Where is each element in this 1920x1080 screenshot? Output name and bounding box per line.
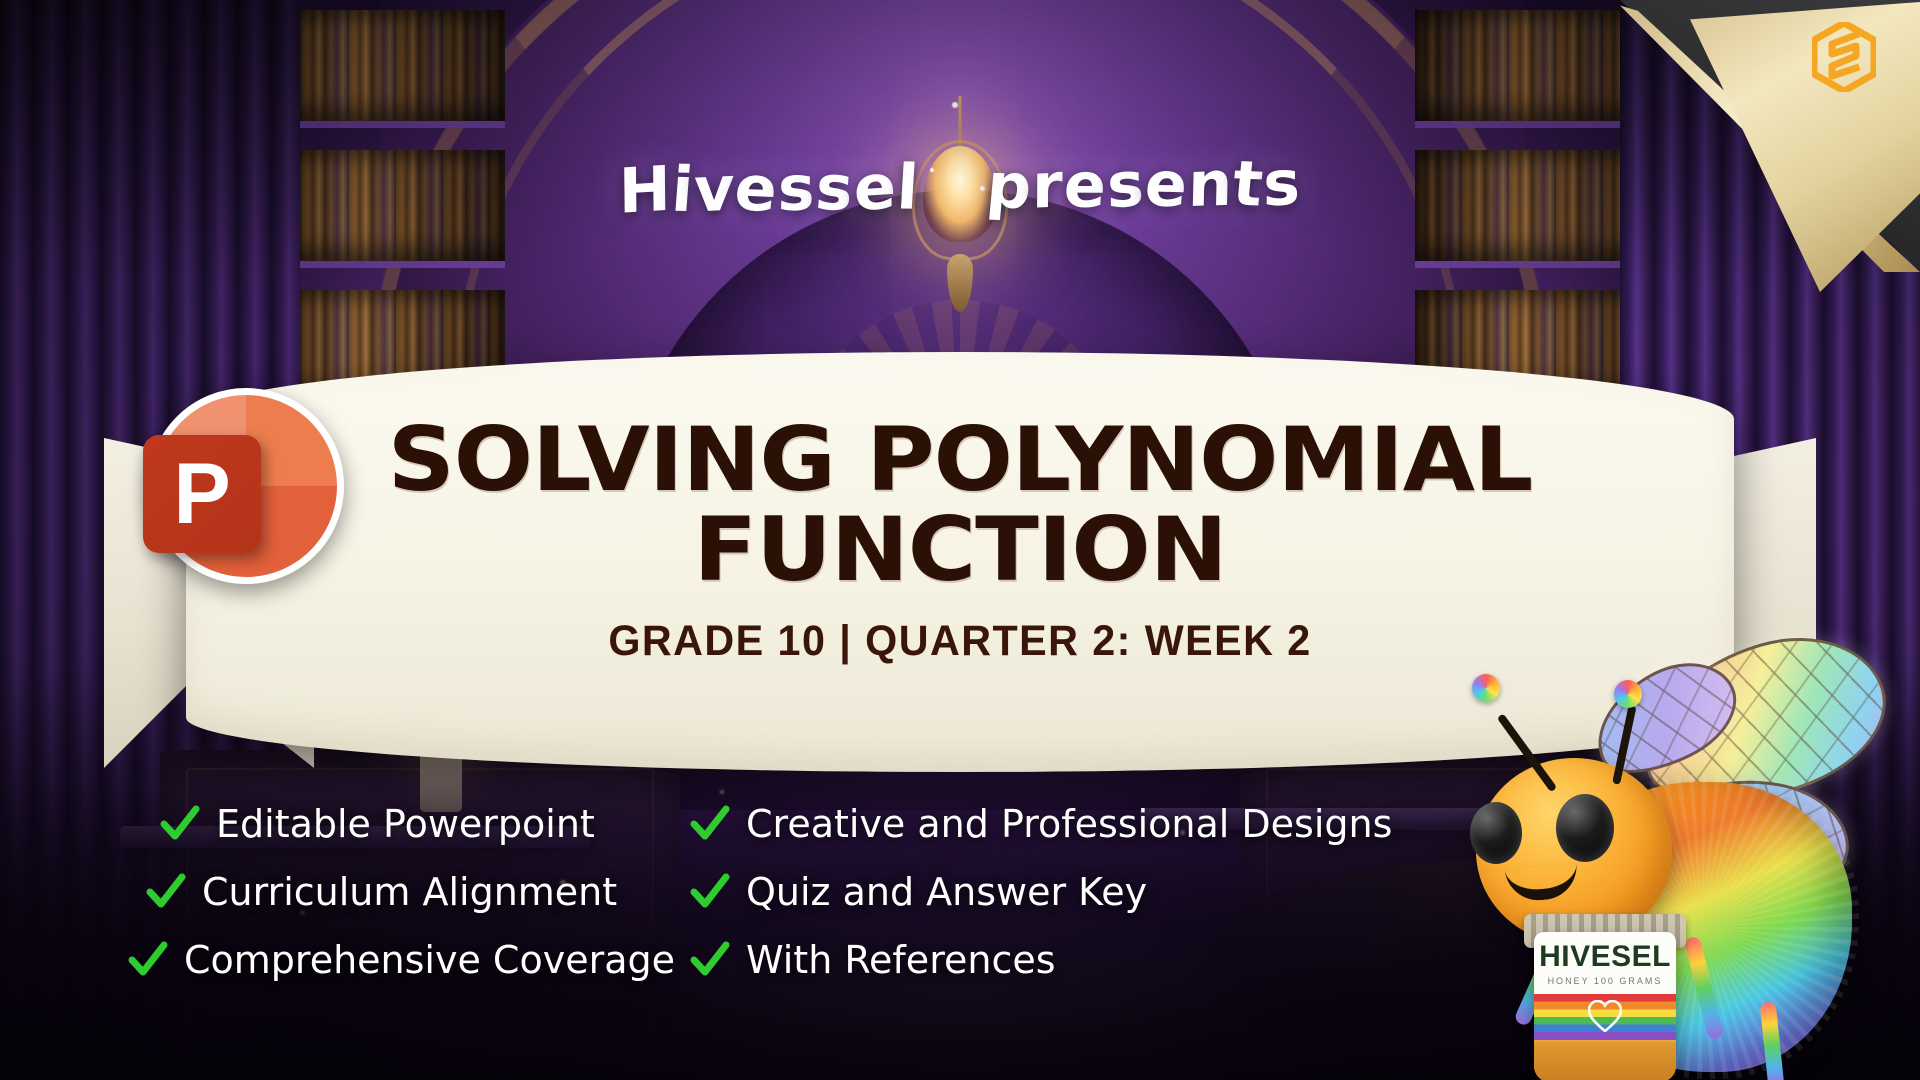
hivessel-bee-mascot: HIVESEL HONEY 100 GRAMS <box>1448 620 1908 1080</box>
honey-jar-sublabel: HONEY 100 GRAMS <box>1534 976 1676 986</box>
slide-thumbnail-canvas: Hivessel presents Hivessel presents SOLV… <box>0 0 1920 1080</box>
list-item-label: Editable Powerpoint <box>216 802 595 846</box>
bee-antenna-tip-right <box>1614 680 1642 708</box>
heart-icon <box>1588 1000 1622 1032</box>
check-icon <box>160 804 200 844</box>
list-item: Editable Powerpoint <box>160 802 675 846</box>
bee-antenna-tip-left <box>1472 674 1500 702</box>
list-item: With References <box>690 938 1392 982</box>
honey-jar: HIVESEL HONEY 100 GRAMS <box>1534 932 1676 1080</box>
honey-jar-contents <box>1534 1042 1676 1080</box>
list-item-label: With References <box>746 938 1056 982</box>
list-item: Comprehensive Coverage <box>128 938 675 982</box>
check-icon <box>146 872 186 912</box>
check-icon <box>128 940 168 980</box>
list-item-label: Creative and Professional Designs <box>746 802 1392 846</box>
honey-jar-label: HIVESEL <box>1534 940 1676 974</box>
list-item: Creative and Professional Designs <box>690 802 1392 846</box>
list-item-label: Curriculum Alignment <box>202 870 617 914</box>
powerpoint-letter-tile: P <box>143 435 261 553</box>
check-icon <box>690 940 730 980</box>
bee-eye-right <box>1556 794 1614 862</box>
list-item: Curriculum Alignment <box>146 870 675 914</box>
feature-column-right: Creative and Professional Designs Quiz a… <box>690 802 1392 1006</box>
list-item: Quiz and Answer Key <box>690 870 1392 914</box>
list-item-label: Quiz and Answer Key <box>746 870 1147 914</box>
powerpoint-icon: P <box>148 388 344 584</box>
check-icon <box>690 872 730 912</box>
list-item-label: Comprehensive Coverage <box>184 938 675 982</box>
hexagon-hive-logo-icon[interactable] <box>1812 22 1876 92</box>
feature-column-left: Editable Powerpoint Curriculum Alignment… <box>128 802 675 1006</box>
bee-eye-left <box>1470 802 1522 864</box>
check-icon <box>690 804 730 844</box>
